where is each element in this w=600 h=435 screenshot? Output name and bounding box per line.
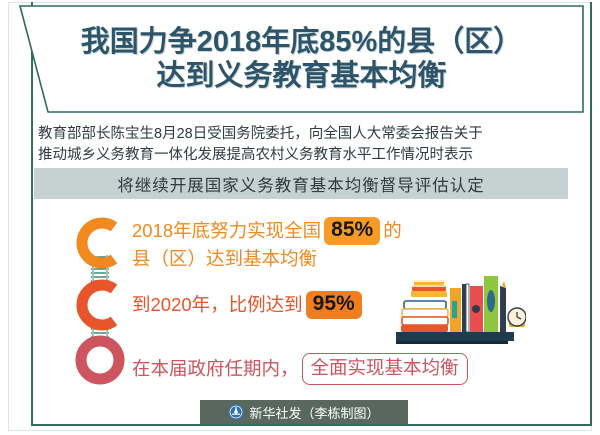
header-banner: 我国力争2018年底85%的县（区） 达到义务教育基本均衡 <box>18 4 585 114</box>
row-3-boxed-text: 全面实现基本均衡 <box>302 353 468 385</box>
page-title-line-2: 达到义务教育基本均衡 <box>156 60 446 92</box>
intro-paragraph: 教育部部长陈宝生8月28日受国务院委托，向全国人大常委会报告关于 推动城乡义务教… <box>38 124 568 166</box>
highlight-banner-text: 将继续开展国家义务教育基本均衡督导评估认定 <box>117 172 485 196</box>
timeline-marker-3-o-ring-icon <box>81 341 119 379</box>
row-3-text-before: 在本届政府任期内， <box>132 358 299 379</box>
row-1-badge: 85% <box>324 217 380 245</box>
footer-credit-text: 新华社发（李栋制图） <box>249 403 379 422</box>
infographic-root: 我国力争2018年底85%的县（区） 达到义务教育基本均衡 教育部部长陈宝生8月… <box>0 0 600 435</box>
banner-title-group: 我国力争2018年底85%的县（区） 达到义务教育基本均衡 <box>18 4 585 114</box>
intro-paragraph-line-2: 推动城乡义务教育一体化发展提高农村义务教育水平工作情况时表示 <box>38 145 568 166</box>
row-2-badge: 95% <box>306 291 362 319</box>
timeline-marker-1-c-ring-icon <box>82 223 114 263</box>
timeline-markers <box>72 213 128 393</box>
highlight-banner: 将继续开展国家义务教育基本均衡督导评估认定 <box>34 168 568 199</box>
timeline-row-3: 在本届政府任期内，全面实现基本均衡 <box>132 353 468 385</box>
page-title-line-1: 我国力争2018年底85%的县（区） <box>81 26 523 58</box>
row-1-text-before: 2018年底努力实现全国 <box>132 220 321 241</box>
right-rule <box>590 2 592 426</box>
timeline-row-1: 2018年底努力实现全国85%的 县（区）达到基本均衡 <box>132 217 402 273</box>
footer-credit-bar: 新华社发（李栋制图） <box>200 400 408 424</box>
row-1-text-line-2: 县（区）达到基本均衡 <box>132 248 317 269</box>
xinhua-logo-icon <box>228 404 244 420</box>
timeline-row-2: 到2020年，比例达到95% <box>132 291 365 319</box>
row-1-text-after: 的 <box>383 220 402 241</box>
timeline-rows: 2018年底努力实现全国85%的 县（区）达到基本均衡 到2020年，比例达到9… <box>132 213 572 395</box>
row-2-text-before: 到2020年，比例达到 <box>132 294 303 315</box>
intro-paragraph-line-1: 教育部部长陈宝生8月28日受国务院委托，向全国人大常委会报告关于 <box>38 124 568 145</box>
timeline-marker-2-c-ring-icon <box>82 285 114 325</box>
bottom-rule <box>31 424 592 426</box>
